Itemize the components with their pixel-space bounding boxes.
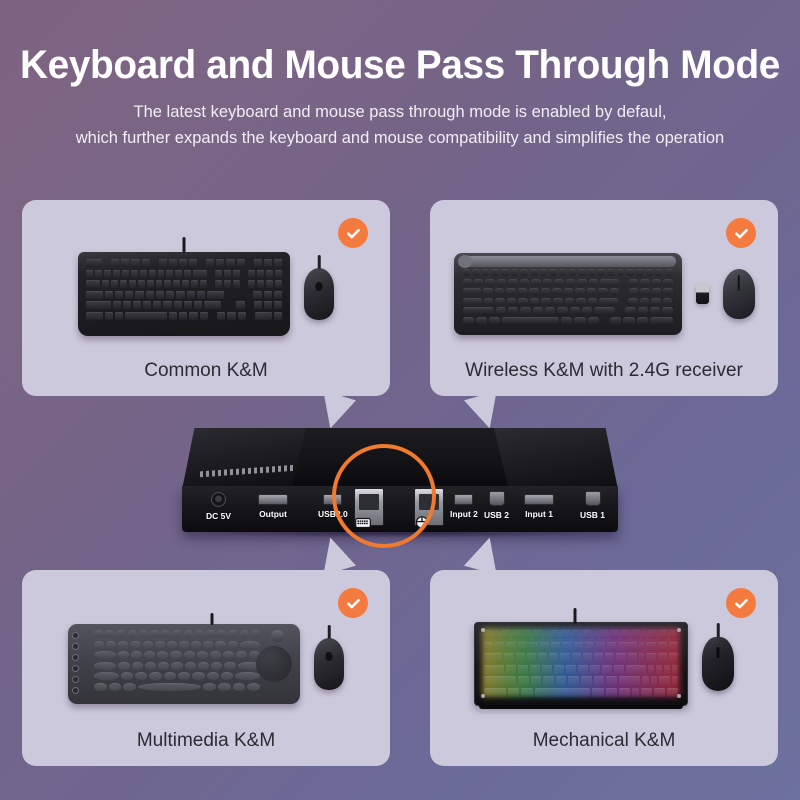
wireless-mouse-image: [723, 269, 755, 319]
device-right-facet: [494, 428, 618, 490]
port-output[interactable]: Output: [258, 494, 288, 519]
port-label: Input 1: [525, 509, 553, 519]
port-usb20[interactable]: USB2.0: [318, 494, 348, 519]
subtitle-line-1: The latest keyboard and mouse pass throu…: [0, 100, 800, 126]
page-subtitle: The latest keyboard and mouse pass throu…: [0, 100, 800, 151]
port-keyboard-passthrough[interactable]: [354, 488, 384, 526]
card-caption: Common K&M: [22, 360, 390, 382]
card-mechanical-km[interactable]: Mechanical K&M: [430, 570, 778, 766]
usb-a-port-icon: [323, 494, 342, 505]
card-wireless-km[interactable]: Wireless K&M with 2.4G receiver: [430, 200, 778, 396]
card-artwork: [430, 234, 778, 354]
port-usb1[interactable]: USB 1: [580, 491, 605, 520]
mechanical-keyboard-image: [474, 622, 688, 706]
card-artwork: [430, 604, 778, 724]
wired-keyboard-image: [78, 252, 290, 336]
usb-b-port-icon: [489, 491, 505, 506]
port-usb2[interactable]: USB 2: [484, 491, 509, 520]
keyboard-cable: [210, 613, 213, 625]
wired-mouse-image: [314, 638, 344, 690]
port-input1[interactable]: Input 1: [524, 494, 554, 519]
port-label: DC 5V: [206, 511, 231, 521]
port-mouse-passthrough[interactable]: [414, 488, 444, 526]
port-dc5v[interactable]: DC 5V: [206, 492, 231, 521]
port-label: USB2.0: [318, 509, 348, 519]
card-caption: Multimedia K&M: [22, 730, 390, 752]
port-input2[interactable]: Input 2: [450, 494, 478, 519]
keyboard-cable: [183, 237, 186, 253]
card-common-km[interactable]: Common K&M: [22, 200, 390, 396]
page-title: Keyboard and Mouse Pass Through Mode: [12, 44, 788, 86]
mouse-cable: [717, 623, 720, 638]
keyboard-icon: [355, 516, 371, 528]
card-pointer-tail: [314, 391, 356, 433]
touchpad: [256, 646, 292, 682]
card-caption: Wireless K&M with 2.4G receiver: [430, 360, 778, 382]
header: Keyboard and Mouse Pass Through Mode The…: [0, 0, 800, 151]
hdmi-port-icon: [524, 494, 554, 505]
mouse-icon: [415, 516, 431, 528]
wireless-keyboard-image: [454, 253, 682, 335]
kvm-switch-device: DC 5V Output USB2.0: [182, 428, 618, 540]
infographic-poster: Keyboard and Mouse Pass Through Mode The…: [0, 0, 800, 800]
port-label: USB 2: [484, 510, 509, 520]
media-dial: [271, 630, 284, 642]
usb-a-port-icon: [454, 494, 473, 505]
hdmi-port-icon: [258, 494, 288, 505]
port-label: USB 1: [580, 510, 605, 520]
subtitle-line-2: which further expands the keyboard and m…: [0, 126, 800, 152]
gaming-mouse-image: [702, 637, 734, 691]
keyboard-base: [479, 705, 683, 709]
mouse-cable: [318, 255, 321, 269]
macro-buttons: [72, 632, 79, 694]
power-jack-icon: [211, 492, 226, 507]
card-artwork: [22, 604, 390, 724]
usb-receiver-dongle-image: [696, 284, 709, 304]
device-left-facet: [182, 428, 306, 490]
card-pointer-tail: [464, 391, 506, 433]
card-multimedia-km[interactable]: Multimedia K&M: [22, 570, 390, 766]
port-label: Output: [259, 509, 287, 519]
usb-b-port-icon: [585, 491, 601, 506]
multimedia-keyboard-image: [68, 624, 300, 704]
keyboard-cable: [573, 608, 576, 624]
mouse-cable: [328, 625, 331, 639]
card-caption: Mechanical K&M: [430, 730, 778, 752]
device-port-row: DC 5V Output USB2.0: [182, 486, 618, 532]
card-artwork: [22, 234, 390, 354]
wired-mouse-image: [304, 268, 334, 320]
port-label: Input 2: [450, 509, 478, 519]
